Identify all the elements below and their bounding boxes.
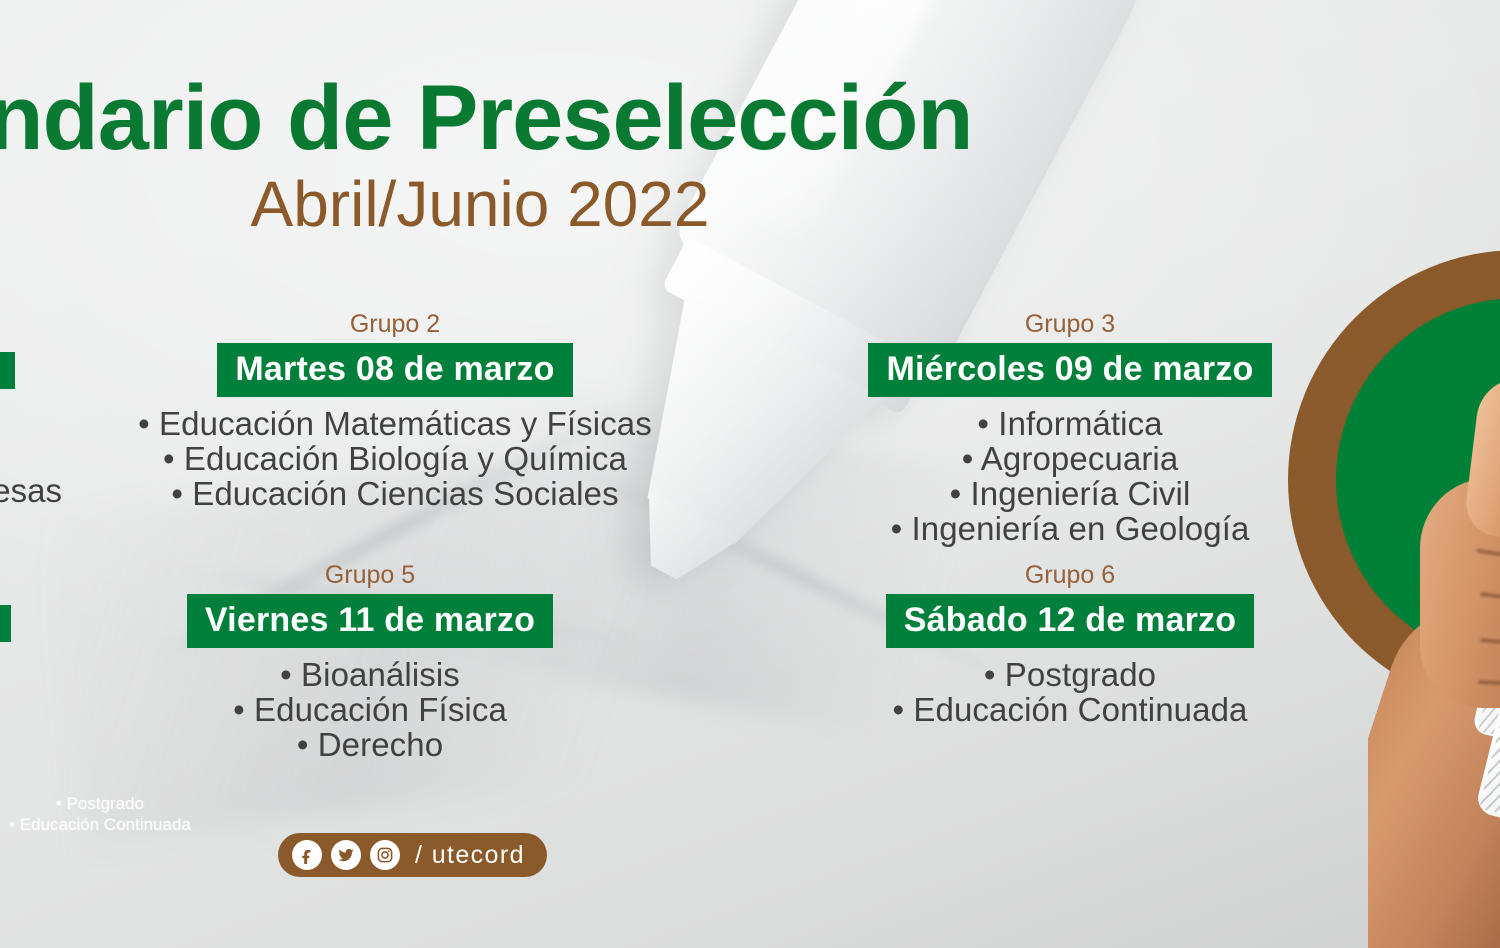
social-handle-text: / utecord [415,841,525,870]
career-item: • Ingeniería Civil [790,477,1350,512]
career-item: • Ingeniería en Geología [790,512,1350,547]
career-list: • Educación Matemáticas y Físicas • Educ… [20,407,770,512]
career-item: • Educación Continuada [790,693,1350,728]
social-handle-pill[interactable]: / utecord [278,833,547,877]
group-date-banner: Viernes 11 de marzo [187,594,553,648]
career-list: • Bioanálisis • Educación Física • Derec… [20,658,720,763]
ghost-watermark-text: • Postgrado • Educación Continuada [0,793,230,836]
group-block-2: Grupo 2 Martes 08 de marzo • Educación M… [20,312,770,512]
group-block-6: Grupo 6 Sábado 12 de marzo • Postgrado •… [790,563,1350,728]
group-block-5: Grupo 5 Viernes 11 de marzo • Bioanálisi… [20,563,720,763]
career-item: • Agropecuaria [790,442,1350,477]
group-date-banner: Miércoles 09 de marzo [868,343,1271,397]
cutoff-date-bar-group4 [0,605,11,642]
page-title: ndario de Preselección [0,72,1150,164]
career-item: • Bioanálisis [20,658,720,693]
poster-canvas: ndario de Preselección Abril/Junio 2022 … [0,0,1500,948]
career-item: • Postgrado [790,658,1350,693]
career-item: • Educación Física [20,693,720,728]
ghost-line-2: • Educación Continuada [0,814,230,835]
career-item: • Informática [790,407,1350,442]
career-list: • Informática • Agropecuaria • Ingenierí… [790,407,1350,547]
facebook-icon[interactable] [292,840,322,870]
career-item: • Educación Matemáticas y Físicas [20,407,770,442]
career-list: • Postgrado • Educación Continuada [790,658,1350,728]
twitter-icon[interactable] [331,840,361,870]
career-item: • Educación Biología y Química [20,442,770,477]
group-date-banner: Sábado 12 de marzo [886,594,1254,648]
career-item: • Educación Ciencias Sociales [20,477,770,512]
instagram-icon[interactable] [370,840,400,870]
thumbs-up-photo [1368,360,1500,948]
group-label: Grupo 5 [20,563,720,588]
group-label: Grupo 2 [20,312,770,337]
group-label: Grupo 3 [790,312,1350,337]
group-date-banner: Martes 08 de marzo [217,343,572,397]
ghost-line-1: • Postgrado [0,793,230,814]
group-label: Grupo 6 [790,563,1350,588]
career-item: • Derecho [20,728,720,763]
page-subtitle: Abril/Junio 2022 [0,172,1150,236]
group-block-3: Grupo 3 Miércoles 09 de marzo • Informát… [790,312,1350,547]
cutoff-date-bar-group1 [0,352,15,389]
